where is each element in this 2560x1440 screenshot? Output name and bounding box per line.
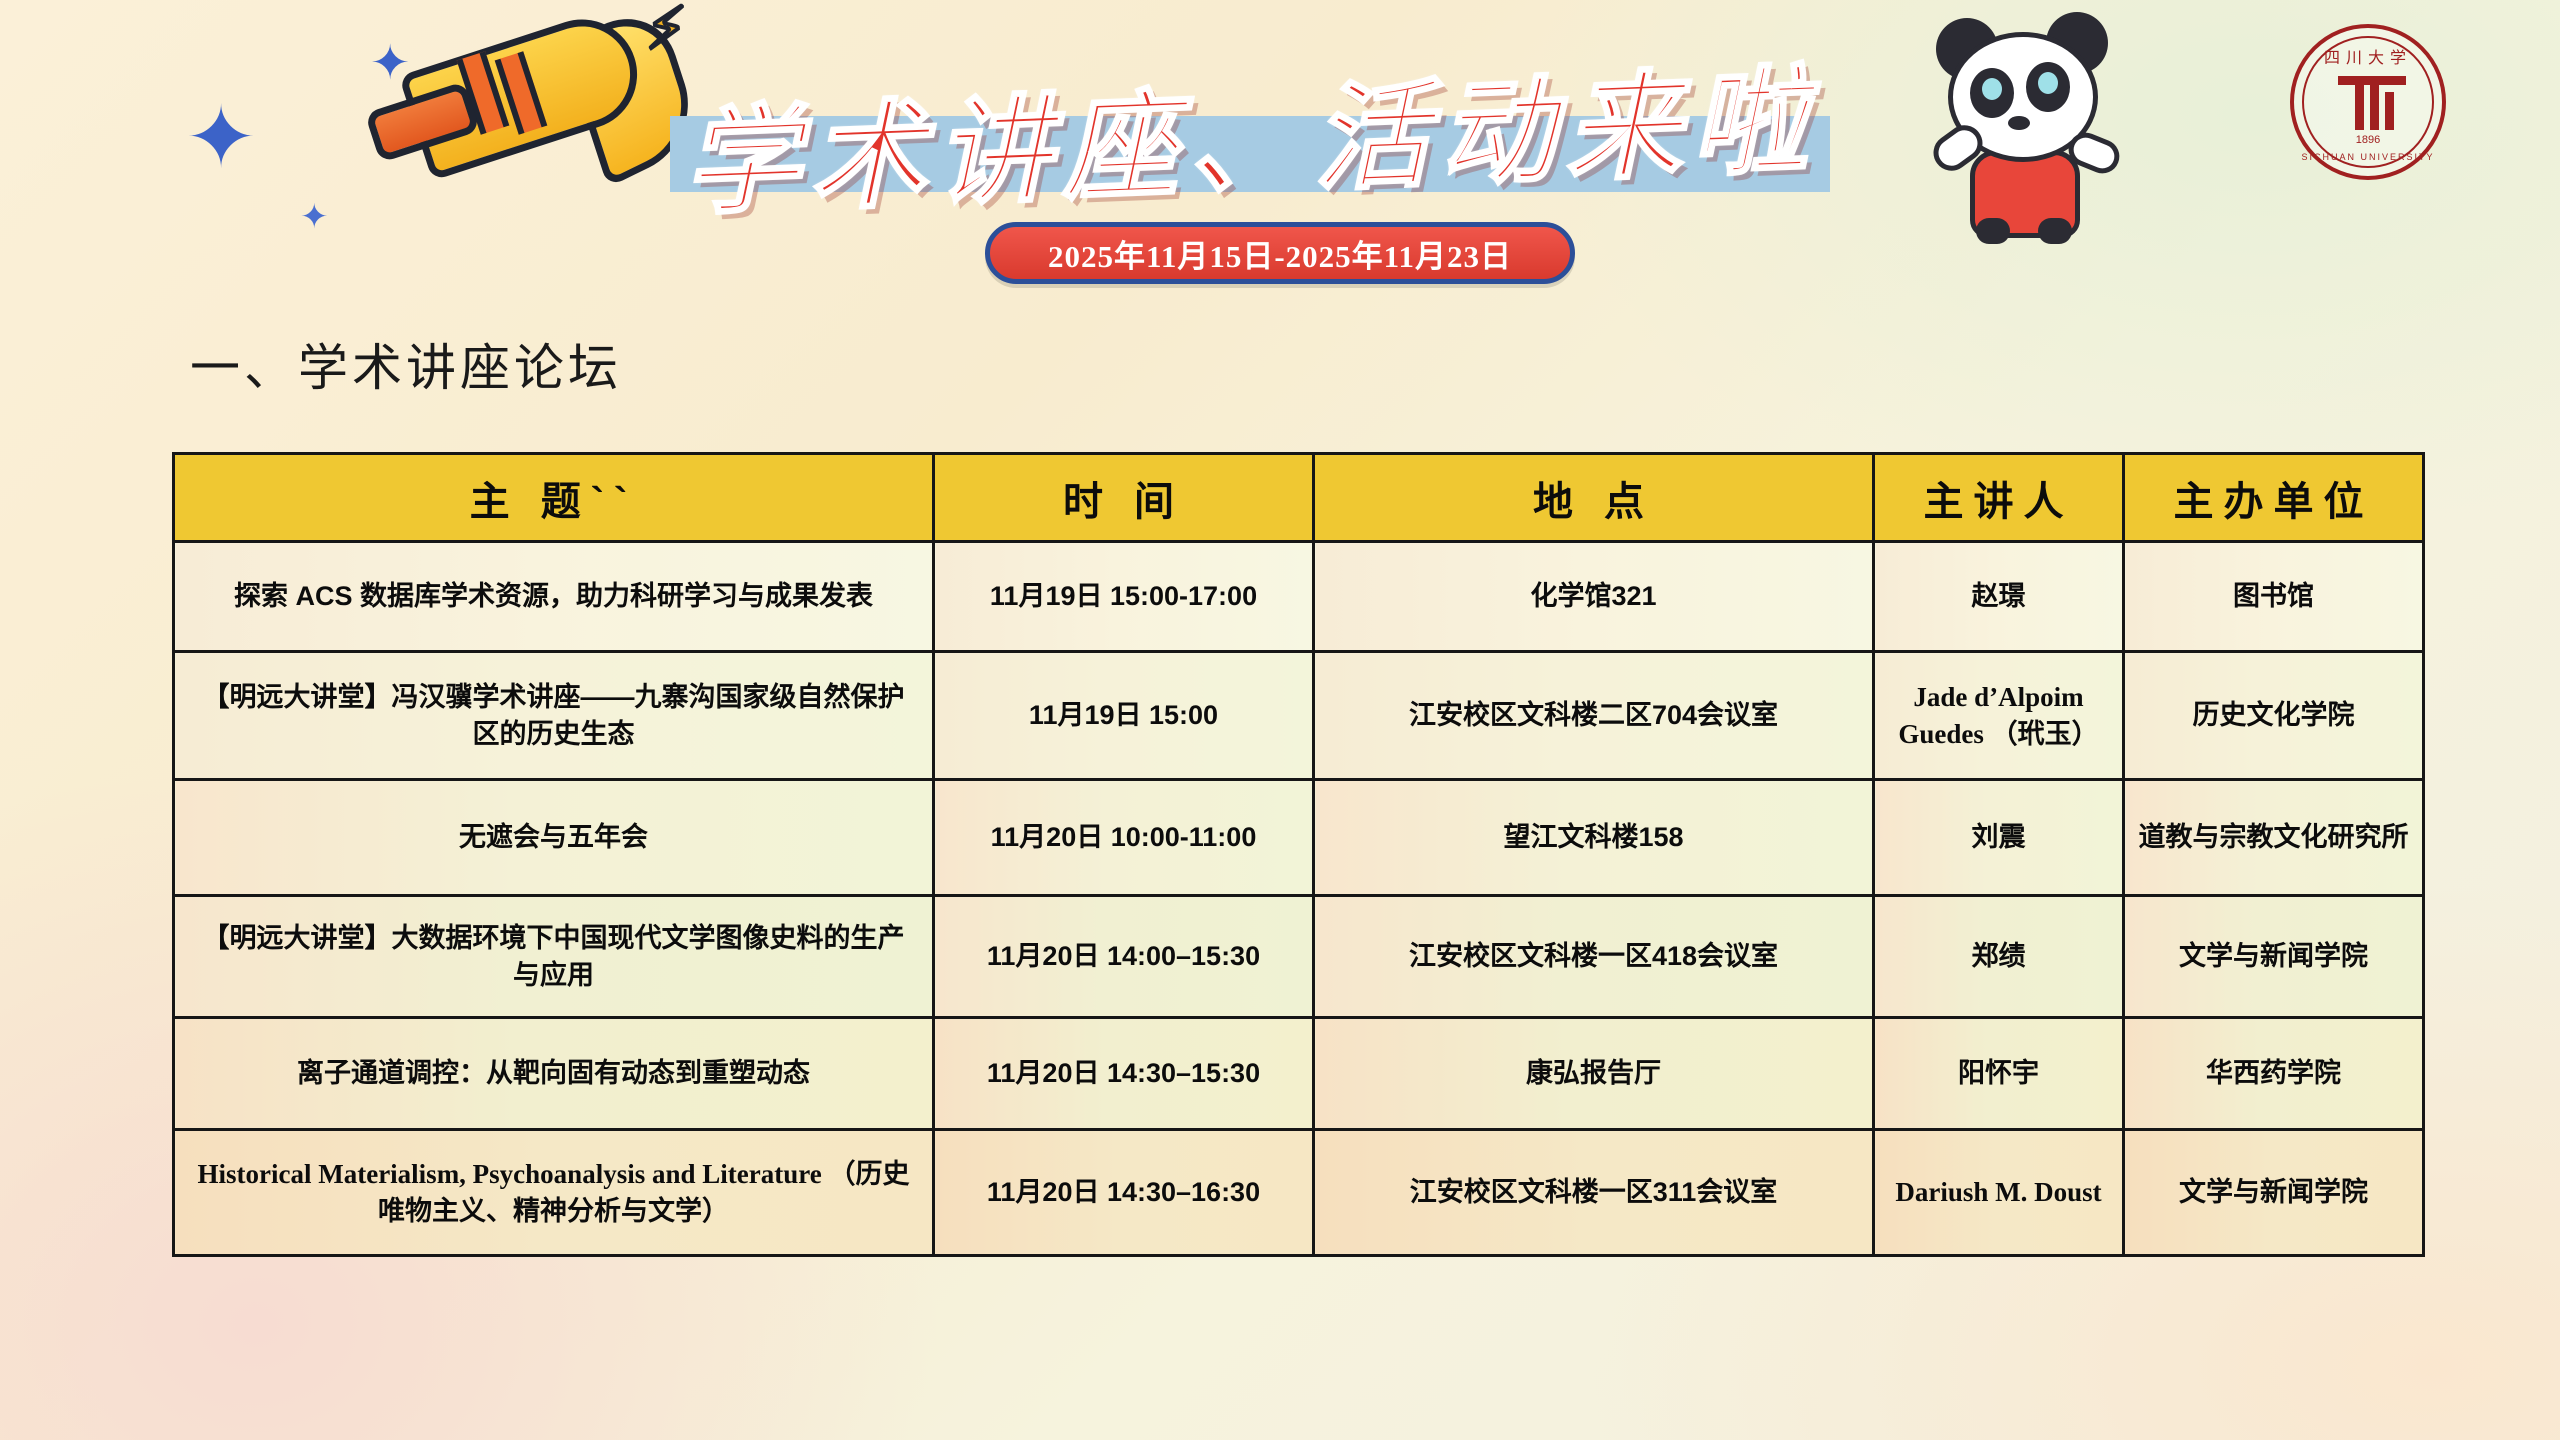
cell-topic: 离子通道调控：从靶向固有动态到重塑动态 [174, 1018, 934, 1130]
sichuan-university-seal-icon: 四川大学 1896 SICHUAN UNIVERSITY [2290, 24, 2446, 180]
banner: ✦ ✦ ✦ ⚡ ⚡ 学术讲座、活动来啦 2025年11月15日-2025年11月… [0, 0, 2560, 320]
cell-org: 图书馆 [2124, 542, 2424, 652]
seal-year: 1896 [2294, 134, 2442, 146]
cell-speaker: 刘震 [1874, 780, 2124, 896]
cell-topic: 【明远大讲堂】冯汉骥学术讲座——九寨沟国家级自然保护区的历史生态 [174, 652, 934, 780]
column-header-place: 地 点 [1314, 454, 1874, 542]
table-row: 离子通道调控：从靶向固有动态到重塑动态 11月20日 14:30–15:30 康… [174, 1018, 2424, 1130]
seal-cn-text: 四川大学 [2294, 44, 2442, 68]
cell-place: 化学馆321 [1314, 542, 1874, 652]
date-range-badge: 2025年11月15日-2025年11月23日 [985, 222, 1575, 284]
cell-speaker: 赵璟 [1874, 542, 2124, 652]
column-header-topic: 主 题`` [174, 454, 934, 542]
panda-nose [2008, 116, 2030, 130]
panda-pupil-right [2038, 72, 2058, 94]
table-header-row: 主 题`` 时 间 地 点 主讲人 主办单位 [174, 454, 2424, 542]
cell-topic: Historical Materialism, Psychoanalysis a… [174, 1130, 934, 1256]
table-row: 探索 ACS 数据库学术资源，助力科研学习与成果发表 11月19日 15:00-… [174, 542, 2424, 652]
seal-gate-glyph [2338, 76, 2406, 130]
table-row: 无遮会与五年会 11月20日 10:00-11:00 望江文科楼158 刘震 道… [174, 780, 2424, 896]
lecture-schedule-table: 主 题`` 时 间 地 点 主讲人 主办单位 探索 ACS 数据库学术资源，助力… [172, 452, 2425, 1257]
panda-leg-left [1976, 218, 2010, 244]
seal-gate-pillar [2370, 84, 2379, 130]
cell-place: 江安校区文科楼一区311会议室 [1314, 1130, 1874, 1256]
cell-topic: 探索 ACS 数据库学术资源，助力科研学习与成果发表 [174, 542, 934, 652]
panda-pupil-left [1982, 78, 2002, 100]
cell-speaker: Dariush M. Doust [1874, 1130, 2124, 1256]
cell-org: 文学与新闻学院 [2124, 1130, 2424, 1256]
cell-place: 江安校区文科楼一区418会议室 [1314, 896, 1874, 1018]
section-heading: 一、学术讲座论坛 [190, 328, 622, 400]
column-header-org: 主办单位 [2124, 454, 2424, 542]
table-row: 【明远大讲堂】冯汉骥学术讲座——九寨沟国家级自然保护区的历史生态 11月19日 … [174, 652, 2424, 780]
seal-gate-pillar [2385, 92, 2394, 130]
page-title: 学术讲座、活动来啦 [657, 25, 1843, 238]
date-range-label: 2025年11月15日-2025年11月23日 [1048, 231, 1512, 276]
sparkle-icon: ✦ [300, 200, 329, 234]
panda-mascot-icon [1930, 10, 2140, 240]
cell-org: 文学与新闻学院 [2124, 896, 2424, 1018]
cell-time: 11月19日 15:00 [934, 652, 1314, 780]
cell-time: 11月20日 14:00–15:30 [934, 896, 1314, 1018]
seal-gate-pillar [2355, 84, 2364, 130]
cell-topic: 无遮会与五年会 [174, 780, 934, 896]
panda-leg-right [2038, 218, 2072, 244]
banner-title-group: 学术讲座、活动来啦 [660, 28, 1860, 208]
cell-time: 11月20日 10:00-11:00 [934, 780, 1314, 896]
column-header-speaker: 主讲人 [1874, 454, 2124, 542]
sparkle-icon: ✦ [185, 95, 257, 181]
column-header-time: 时 间 [934, 454, 1314, 542]
cell-topic: 【明远大讲堂】大数据环境下中国现代文学图像史料的生产与应用 [174, 896, 934, 1018]
cell-speaker: Jade d’Alpoim Guedes （玳玉） [1874, 652, 2124, 780]
cell-place: 江安校区文科楼二区704会议室 [1314, 652, 1874, 780]
cell-speaker: 郑绩 [1874, 896, 2124, 1018]
cell-time: 11月20日 14:30–15:30 [934, 1018, 1314, 1130]
table-row: Historical Materialism, Psychoanalysis a… [174, 1130, 2424, 1256]
cell-org: 历史文化学院 [2124, 652, 2424, 780]
table-row: 【明远大讲堂】大数据环境下中国现代文学图像史料的生产与应用 11月20日 14:… [174, 896, 2424, 1018]
cell-place: 康弘报告厅 [1314, 1018, 1874, 1130]
cell-place: 望江文科楼158 [1314, 780, 1874, 896]
cell-time: 11月19日 15:00-17:00 [934, 542, 1314, 652]
cell-org: 道教与宗教文化研究所 [2124, 780, 2424, 896]
seal-en-text: SICHUAN UNIVERSITY [2294, 152, 2442, 162]
cell-time: 11月20日 14:30–16:30 [934, 1130, 1314, 1256]
cell-speaker: 阳怀宇 [1874, 1018, 2124, 1130]
cell-org: 华西药学院 [2124, 1018, 2424, 1130]
